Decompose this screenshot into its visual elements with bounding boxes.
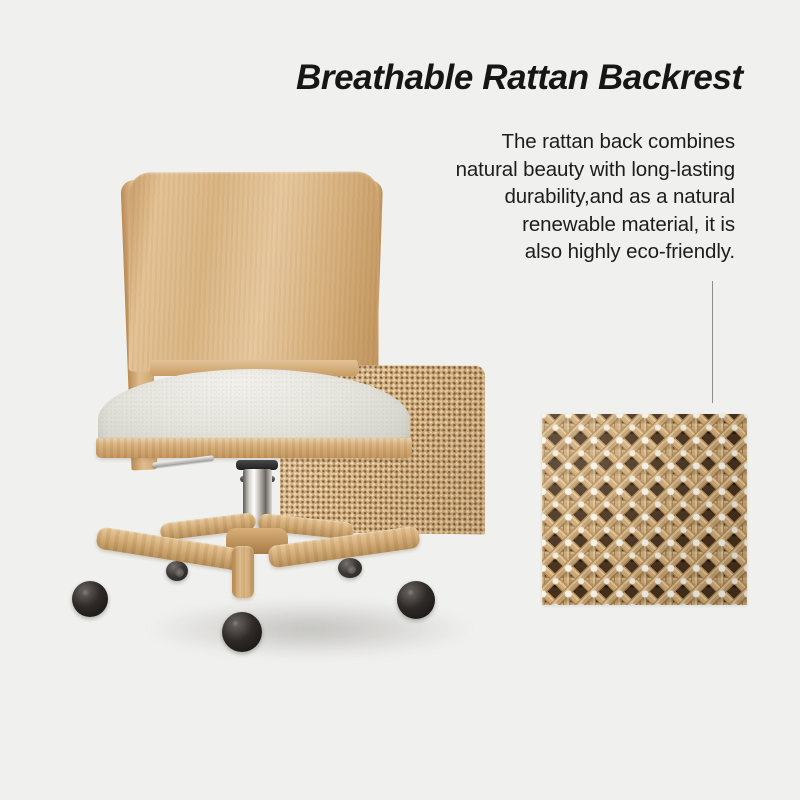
description-line-1: The rattan back combines [380, 128, 735, 156]
description-line-4: renewable material, it is [380, 211, 735, 239]
description-line-2: natural beauty with long-lasting [380, 156, 735, 184]
backrest-wood-frame [129, 172, 379, 373]
swatch-lighting-overlay [542, 414, 747, 605]
rattan-detail-swatch [542, 414, 747, 605]
seat-wood-edge-band [96, 438, 412, 458]
page-title: Breathable Rattan Backrest [296, 60, 770, 97]
caster-center-front [222, 612, 262, 652]
callout-connector-line [712, 281, 713, 403]
base-leg-center-front [232, 546, 254, 598]
description-line-5: also highly eco-friendly. [380, 238, 735, 266]
caster-back-right [338, 558, 362, 578]
feature-description: The rattan back combines natural beauty … [380, 128, 735, 266]
caster-front-left [72, 581, 108, 617]
product-image-chair [0, 0, 800, 800]
caster-back-left [166, 561, 188, 581]
caster-front-right [397, 581, 435, 619]
product-feature-banner: Breathable Rattan Backrest The rattan ba… [0, 0, 800, 800]
description-line-3: durability,and as a natural [380, 183, 735, 211]
